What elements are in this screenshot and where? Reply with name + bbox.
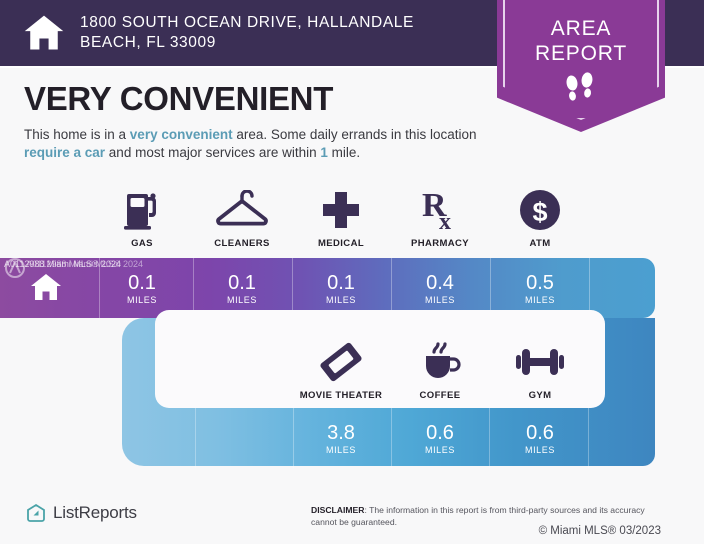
amenity-label: COFFEE (390, 390, 490, 401)
distance-unit: MILES (490, 294, 590, 306)
distance-number: 0.6 (490, 422, 590, 444)
medical-cross-icon (291, 186, 391, 234)
amenity-pharmacy: R x PHARMACY (390, 186, 490, 249)
desc-highlight-1: very convenient (130, 127, 233, 142)
desc-highlight-3: 1 (320, 145, 328, 160)
amenity-label: PHARMACY (390, 238, 490, 249)
distance-number: 0.5 (490, 272, 590, 294)
distance-number: 0.1 (291, 272, 391, 294)
distance-value-cleaners: 0.1 MILES (192, 272, 292, 306)
amenity-icons-row-2: MOVIE THEATER COFFEE GYM (0, 338, 704, 408)
mls-copyright: © Miami MLS® 03/2023 (311, 525, 661, 537)
distance-value-pharmacy: 0.4 MILES (390, 272, 490, 306)
amenity-label: MOVIE THEATER (291, 390, 391, 401)
amenity-medical: MEDICAL (291, 186, 391, 249)
band2-divider (195, 408, 196, 468)
distance-number: 0.4 (390, 272, 490, 294)
amenity-label: ATM (490, 238, 590, 249)
distance-number: 0.1 (192, 272, 292, 294)
badge-label: AREA REPORT (497, 16, 665, 66)
amenity-icons-row-1: GAS CLEANERS MEDICAL R x PHARMACY (0, 186, 704, 258)
clothes-hanger-icon (192, 186, 292, 234)
amenity-label: CLEANERS (192, 238, 292, 249)
desc-part-2: area. Some daily errands in this locatio… (233, 127, 477, 142)
desc-highlight-2: require a car (24, 145, 105, 160)
distance-unit: MILES (390, 294, 490, 306)
gas-pump-icon (92, 186, 192, 234)
listreports-home-icon (26, 503, 46, 523)
page-title: VERY CONVENIENT (24, 80, 333, 118)
amenity-movie-theater: MOVIE THEATER (291, 338, 391, 401)
distance-value-gym: 0.6 MILES (490, 422, 590, 456)
distance-unit: MILES (390, 444, 490, 456)
distance-unit: MILES (490, 444, 590, 456)
amenity-cleaners: CLEANERS (192, 186, 292, 249)
movie-ticket-icon (291, 338, 391, 386)
distance-number: 0.6 (390, 422, 490, 444)
amenity-label: MEDICAL (291, 238, 391, 249)
desc-part-4: mile. (328, 145, 360, 160)
distance-value-gas: 0.1 MILES (92, 272, 192, 306)
desc-part-3: and most major services are within (105, 145, 320, 160)
distance-value-coffee: 0.6 MILES (390, 422, 490, 456)
prescription-rx-icon: R x (390, 186, 490, 234)
dumbbell-icon (490, 338, 590, 386)
dollar-circle-icon: $ (490, 186, 590, 234)
amenity-gas: GAS (92, 186, 192, 249)
listreports-logo: ListReports (26, 503, 137, 523)
amenity-atm: $ ATM (490, 186, 590, 249)
watermark-logo-icon (2, 258, 28, 280)
property-address: 1800 SOUTH OCEAN DRIVE, HALLANDALE BEACH… (80, 13, 480, 53)
description-text: This home is in a very convenient area. … (24, 126, 504, 162)
home-marker-icon (30, 272, 62, 307)
amenity-label: GYM (490, 390, 590, 401)
home-icon (22, 11, 66, 55)
disclaimer-label: DISCLAIMER (311, 505, 364, 515)
amenity-coffee: COFFEE (390, 338, 490, 401)
distance-value-movie-theater: 3.8 MILES (291, 422, 391, 456)
svg-text:x: x (439, 209, 451, 232)
svg-text:$: $ (532, 197, 547, 227)
distance-value-atm: 0.5 MILES (490, 272, 590, 306)
amenity-gym: GYM (490, 338, 590, 401)
badge-line-1: AREA (497, 16, 665, 41)
distance-number: 0.1 (92, 272, 192, 294)
distance-unit: MILES (192, 294, 292, 306)
distance-unit: MILES (291, 294, 391, 306)
listreports-logo-text: ListReports (53, 503, 137, 523)
coffee-cup-icon (390, 338, 490, 386)
distance-unit: MILES (92, 294, 192, 306)
distance-unit: MILES (291, 444, 391, 456)
footprints-icon (497, 72, 665, 111)
desc-part-1: This home is in a (24, 127, 130, 142)
amenity-label: GAS (92, 238, 192, 249)
badge-line-2: REPORT (497, 41, 665, 66)
distance-value-medical: 0.1 MILES (291, 272, 391, 306)
distance-number: 3.8 (291, 422, 391, 444)
